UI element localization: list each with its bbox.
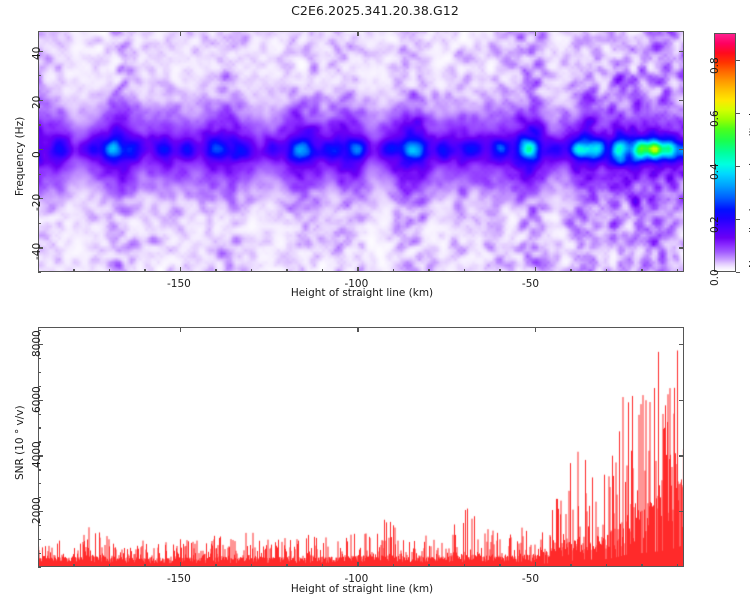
snr-y-minor-tick bbox=[38, 427, 41, 428]
snr-y-minor-tick bbox=[38, 469, 41, 470]
snr-x-minor-tick bbox=[464, 564, 465, 567]
snr-panel bbox=[38, 327, 684, 567]
spectrogram-y-tick bbox=[679, 247, 684, 248]
snr-y-tick-label: 8000 bbox=[31, 330, 43, 357]
snr-y-minor-tick bbox=[38, 539, 41, 540]
spectrogram-x-minor-tick bbox=[215, 269, 216, 272]
spectrogram-x-minor-tick bbox=[499, 269, 500, 272]
snr-y-minor-tick bbox=[38, 372, 41, 373]
spectrogram-y-minor-tick bbox=[38, 174, 41, 175]
colorbar-tick-label: 0.4 bbox=[709, 163, 721, 180]
spectrogram-x-minor-tick bbox=[606, 269, 607, 272]
snr-x-tick bbox=[535, 327, 536, 332]
snr-x-minor-tick bbox=[215, 564, 216, 567]
snr-y-minor-tick bbox=[38, 414, 41, 415]
spectrogram-x-minor-tick bbox=[677, 269, 678, 272]
spectrogram-y-tick bbox=[38, 149, 43, 150]
spectrogram-y-tick-label: 0 bbox=[31, 151, 43, 158]
colorbar-tick-label: 0.6 bbox=[709, 110, 721, 127]
snr-x-minor-tick bbox=[251, 564, 252, 567]
spectrogram-x-minor-tick bbox=[322, 269, 323, 272]
spectrogram-x-minor-tick bbox=[109, 269, 110, 272]
spectrogram-x-minor-tick bbox=[464, 269, 465, 272]
spectrogram-y-tick-label: 40 bbox=[31, 46, 43, 59]
snr-x-minor-tick bbox=[570, 564, 571, 567]
snr-x-axis-label: Height of straight line (km) bbox=[0, 583, 724, 595]
snr-y-axis-label: SNR (10 ° v/v) bbox=[14, 405, 26, 480]
snr-y-tick-label: 2000 bbox=[31, 497, 43, 524]
snr-y-tick-label: 4000 bbox=[31, 442, 43, 469]
spectrogram-y-minor-tick bbox=[38, 124, 41, 125]
snr-x-minor-tick bbox=[286, 564, 287, 567]
colorbar-tick bbox=[736, 272, 740, 273]
spectrogram-y-tick bbox=[679, 149, 684, 150]
snr-x-minor-tick bbox=[499, 564, 500, 567]
spectrogram-y-tick-label: -20 bbox=[31, 194, 43, 211]
spectrogram-y-tick-label: 20 bbox=[31, 95, 43, 108]
snr-x-tick bbox=[357, 327, 358, 332]
page-title: C2E6.2025.341.20.38.G12 bbox=[0, 3, 750, 18]
snr-y-minor-tick bbox=[38, 553, 41, 554]
spectrogram-x-minor-tick bbox=[393, 269, 394, 272]
figure-root: C2E6.2025.341.20.38.G12 40200-20-40-150-… bbox=[0, 0, 750, 600]
snr-x-minor-tick bbox=[73, 564, 74, 567]
snr-x-minor-tick bbox=[322, 564, 323, 567]
snr-y-minor-tick bbox=[38, 483, 41, 484]
snr-x-minor-tick bbox=[428, 564, 429, 567]
spectrogram-x-tick bbox=[180, 31, 181, 36]
snr-x-tick bbox=[357, 562, 358, 567]
snr-x-tick bbox=[535, 562, 536, 567]
spectrogram-x-minor-tick bbox=[641, 269, 642, 272]
snr-x-minor-tick bbox=[393, 564, 394, 567]
spectrogram-y-axis-label: Frequency (Hz) bbox=[14, 117, 26, 196]
snr-x-tick bbox=[180, 327, 181, 332]
spectrogram-x-minor-tick bbox=[570, 269, 571, 272]
spectrogram-y-tick bbox=[679, 198, 684, 199]
spectrogram-y-tick-label: -40 bbox=[31, 243, 43, 260]
colorbar-tick bbox=[736, 113, 740, 114]
snr-y-tick bbox=[679, 400, 684, 401]
spectrogram-x-axis-label: Height of straight line (km) bbox=[0, 287, 724, 299]
snr-y-minor-tick bbox=[38, 567, 41, 568]
spectrogram-y-minor-tick bbox=[38, 223, 41, 224]
snr-y-tick bbox=[679, 344, 684, 345]
spectrogram-x-tick bbox=[535, 267, 536, 272]
snr-x-minor-tick bbox=[641, 564, 642, 567]
spectrogram-y-minor-tick bbox=[38, 75, 41, 76]
spectrogram-x-tick bbox=[535, 31, 536, 36]
snr-y-tick bbox=[679, 455, 684, 456]
spectrogram-x-minor-tick bbox=[251, 269, 252, 272]
colorbar-tick-label: 0.8 bbox=[709, 57, 721, 74]
colorbar-tick-label: 0.0 bbox=[709, 269, 721, 286]
colorbar-tick bbox=[736, 166, 740, 167]
colorbar-tick bbox=[736, 219, 740, 220]
snr-x-minor-tick bbox=[144, 564, 145, 567]
snr-y-minor-tick bbox=[38, 358, 41, 359]
colorbar-tick-label: 0.2 bbox=[709, 216, 721, 233]
spectrogram-x-tick bbox=[357, 31, 358, 36]
snr-x-tick bbox=[180, 562, 181, 567]
spectrogram-x-tick bbox=[357, 267, 358, 272]
snr-frame bbox=[38, 327, 684, 567]
spectrogram-panel bbox=[38, 31, 684, 272]
spectrogram-frame bbox=[38, 31, 684, 272]
spectrogram-y-minor-tick bbox=[38, 272, 41, 273]
colorbar-tick bbox=[736, 60, 740, 61]
spectrogram-x-minor-tick bbox=[428, 269, 429, 272]
spectrogram-x-minor-tick bbox=[144, 269, 145, 272]
snr-x-minor-tick bbox=[606, 564, 607, 567]
snr-x-minor-tick bbox=[677, 564, 678, 567]
spectrogram-y-tick bbox=[679, 51, 684, 52]
snr-x-minor-tick bbox=[109, 564, 110, 567]
snr-y-minor-tick bbox=[38, 525, 41, 526]
spectrogram-x-tick bbox=[180, 267, 181, 272]
spectrogram-y-tick bbox=[679, 100, 684, 101]
spectrogram-x-minor-tick bbox=[286, 269, 287, 272]
snr-y-tick-label: 6000 bbox=[31, 386, 43, 413]
snr-y-tick bbox=[679, 511, 684, 512]
spectrogram-x-minor-tick bbox=[73, 269, 74, 272]
